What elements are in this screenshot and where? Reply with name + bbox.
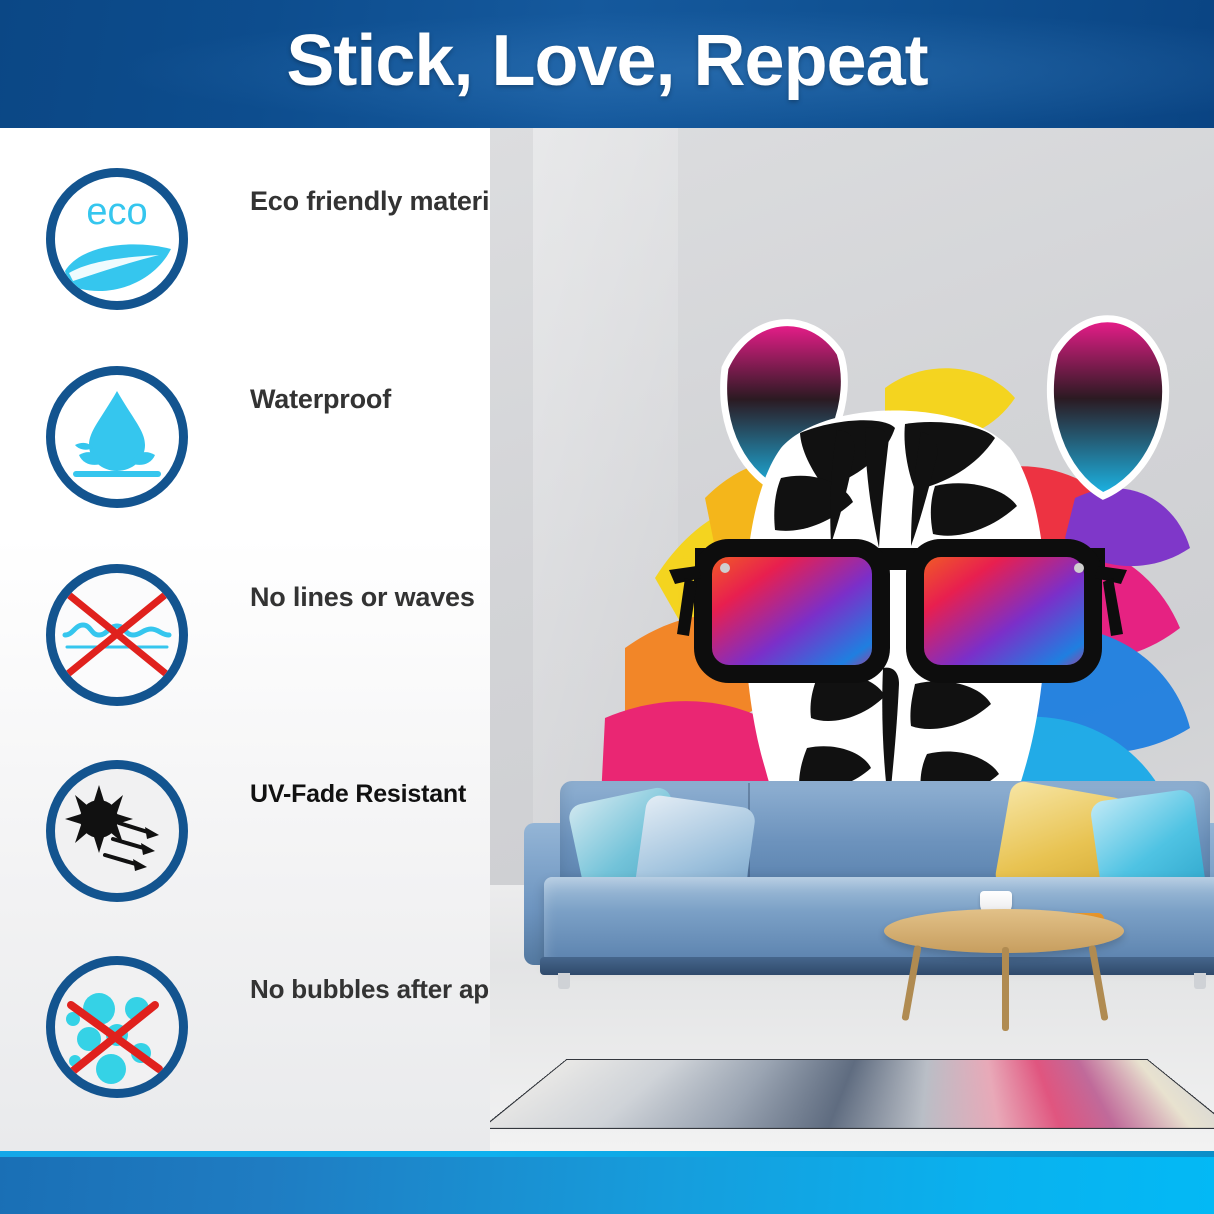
no-waves-icon: [46, 564, 188, 706]
banner-header: Stick, Love, Repeat: [0, 0, 1214, 128]
feature-label-no-bubbles: No bubbles after apply: [250, 974, 526, 1005]
room-scene-photo: [490, 128, 1214, 1151]
sun-with-rays-icon: [55, 769, 179, 893]
feature-label-waterproof: Waterproof: [250, 384, 391, 415]
feature-item-uv-fade: UV-Fade Resistant: [46, 760, 490, 910]
feature-item-waterproof: Waterproof: [46, 366, 490, 516]
bubbles-with-cross-icon: [55, 965, 179, 1089]
droplet-shape-icon: [55, 375, 179, 499]
feature-label-eco: Eco friendly material: [250, 186, 511, 217]
sofa-leg-left: [558, 973, 570, 989]
banner-footer: [0, 1151, 1214, 1214]
waves-with-cross-icon: [55, 573, 179, 697]
eco-leaf-icon: eco: [46, 168, 188, 310]
feature-item-eco: eco Eco friendly material: [46, 168, 490, 318]
sun-uv-icon: [46, 760, 188, 902]
footer-accent-strip: [0, 1151, 1214, 1157]
sofa-leg-right: [1194, 973, 1206, 989]
feature-label-no-lines: No lines or waves: [250, 582, 475, 613]
feature-list: eco Eco friendly material: [0, 128, 490, 1151]
table-leg-left: [901, 945, 921, 1021]
feature-label-uv-fade: UV-Fade Resistant: [250, 780, 466, 809]
page-title: Stick, Love, Repeat: [0, 0, 1214, 125]
water-drop-icon: [46, 366, 188, 508]
table-leg-right: [1088, 945, 1108, 1021]
eco-icon-label: eco: [55, 193, 179, 231]
coffee-table: [884, 891, 1124, 1031]
feature-item-no-lines: No lines or waves: [46, 564, 490, 714]
feature-item-no-bubbles: No bubbles after apply: [46, 956, 490, 1106]
no-bubbles-icon: [46, 956, 188, 1098]
leaf-shape-icon: [63, 237, 173, 295]
banner-body: eco Eco friendly material: [0, 128, 1214, 1151]
table-leg-center: [1002, 947, 1009, 1031]
product-feature-banner: Stick, Love, Repeat eco Eco friendly mat…: [0, 0, 1214, 1214]
